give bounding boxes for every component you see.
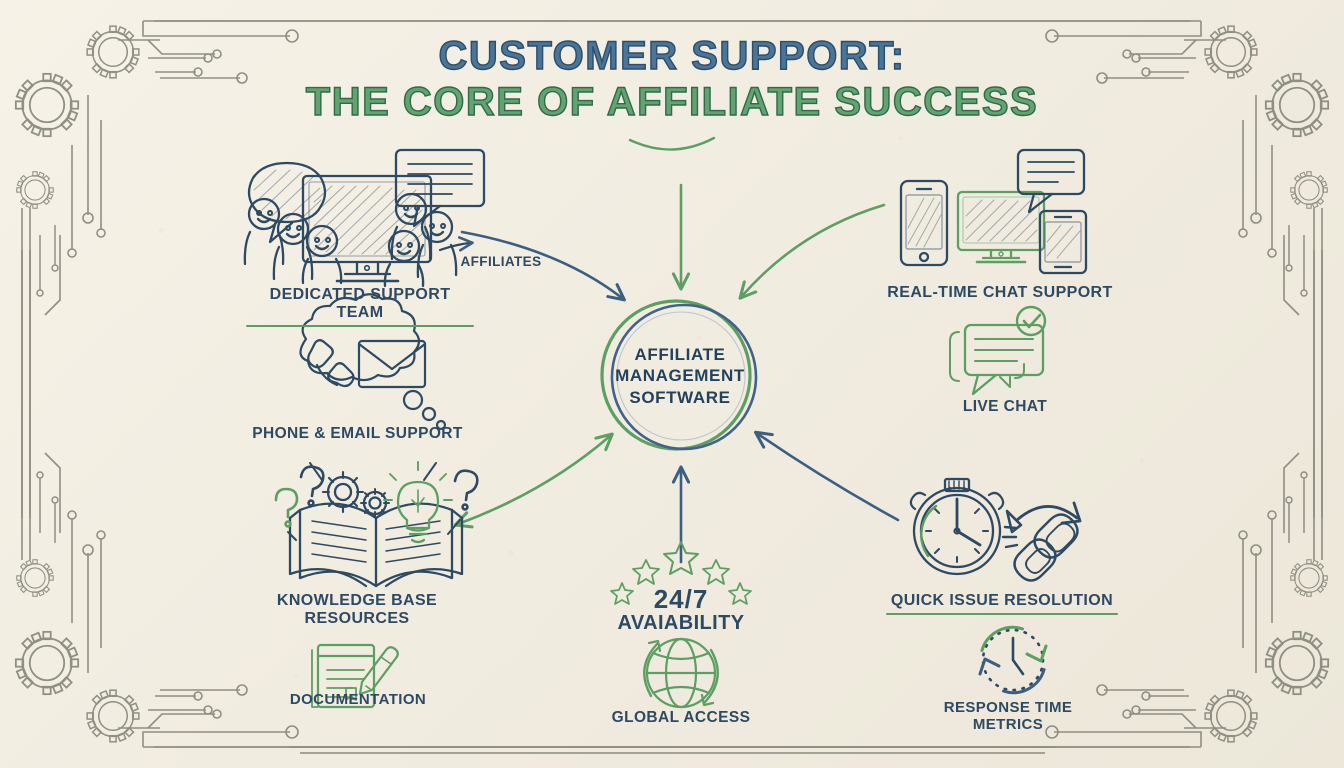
people-monitor-chat-icon (245, 150, 484, 286)
globe-arrows-icon (644, 639, 717, 707)
label-global-access: Global Access (601, 709, 761, 726)
label-availability: Avaiability (611, 612, 751, 634)
label-response-time-metrics: Response Time Metrics (908, 700, 1108, 734)
label-phone-email-support: Phone & Email Support (250, 425, 465, 442)
label-availability-number: 24/7 (621, 585, 741, 614)
chat-bubbles-check-icon (950, 307, 1045, 394)
label-dedicated-support-team: Dedicated Support Team (246, 286, 474, 327)
label-live-chat: Live Chat (940, 398, 1070, 415)
label-affiliates: Affiliates (455, 254, 547, 269)
open-book-gears-bulb-icon (276, 462, 477, 586)
label-documentation: Documentation (268, 692, 448, 709)
label-real-time-chat-support: Real-Time Chat Support (880, 284, 1120, 302)
label-quick-issue-resolution: Quick Issue Resolution (886, 592, 1118, 615)
label-knowledge-base-resources: Knowledge Base Resources (262, 592, 452, 628)
clock-cycle-arrows-icon (977, 620, 1048, 699)
icon-layer (0, 0, 1344, 768)
stopwatch-chain-icon (911, 479, 1080, 581)
infographic-canvas: Customer Support: The Core of Affiliate … (0, 0, 1344, 768)
phone-monitor-tablet-icon (901, 150, 1086, 273)
